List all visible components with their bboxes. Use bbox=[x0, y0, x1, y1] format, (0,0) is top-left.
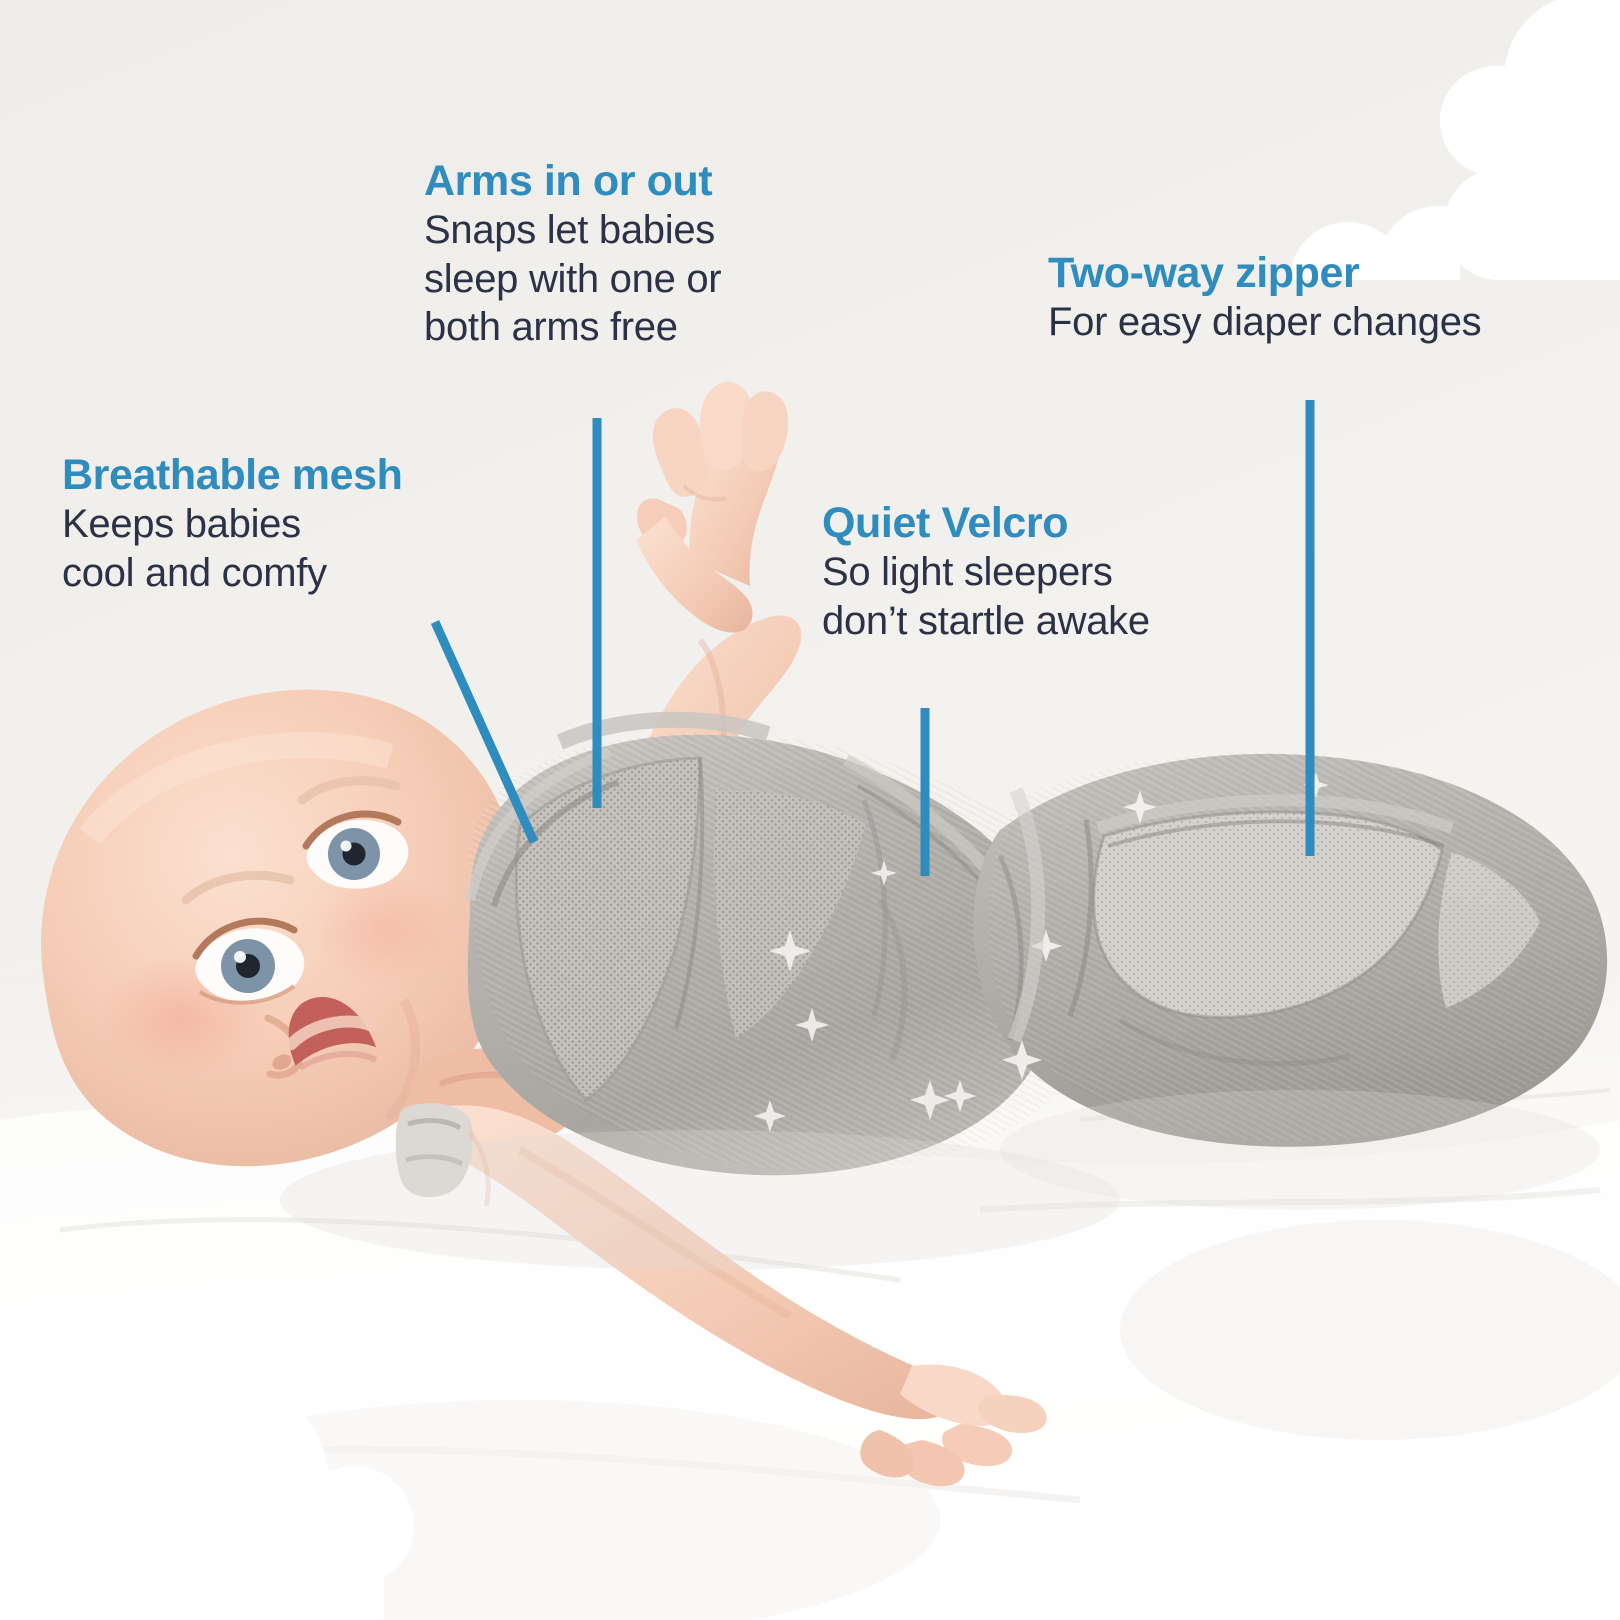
callout-two-way-zipper: Two-way zipper For easy diaper changes bbox=[1048, 250, 1481, 347]
callout-body-line: Keeps babies bbox=[62, 500, 403, 548]
infographic-canvas: Breathable mesh Keeps babies cool and co… bbox=[0, 0, 1620, 1620]
callout-body-line: don’t startle awake bbox=[822, 597, 1150, 645]
callout-title-arms-in-or-out: Arms in or out bbox=[424, 158, 721, 204]
callout-title-breathable-mesh: Breathable mesh bbox=[62, 452, 403, 498]
callout-body-line: cool and comfy bbox=[62, 549, 403, 597]
callout-quiet-velcro: Quiet Velcro So light sleepers don’t sta… bbox=[822, 500, 1150, 645]
callout-body-arms-in-or-out: Snaps let babies sleep with one or both … bbox=[424, 206, 721, 351]
callout-body-line: Snaps let babies bbox=[424, 206, 721, 254]
product-photo bbox=[0, 0, 1620, 1620]
callout-body-two-way-zipper: For easy diaper changes bbox=[1048, 298, 1481, 346]
callout-body-line: So light sleepers bbox=[822, 548, 1150, 596]
callout-body-line: both arms free bbox=[424, 303, 721, 351]
callout-body-line: sleep with one or bbox=[424, 255, 721, 303]
callout-title-quiet-velcro: Quiet Velcro bbox=[822, 500, 1150, 546]
callout-arms-in-or-out: Arms in or out Snaps let babies sleep wi… bbox=[424, 158, 721, 352]
callout-body-breathable-mesh: Keeps babies cool and comfy bbox=[62, 500, 403, 597]
callout-body-quiet-velcro: So light sleepers don’t startle awake bbox=[822, 548, 1150, 645]
callout-breathable-mesh: Breathable mesh Keeps babies cool and co… bbox=[62, 452, 403, 597]
callout-title-two-way-zipper: Two-way zipper bbox=[1048, 250, 1481, 296]
callout-body-line: For easy diaper changes bbox=[1048, 298, 1481, 346]
